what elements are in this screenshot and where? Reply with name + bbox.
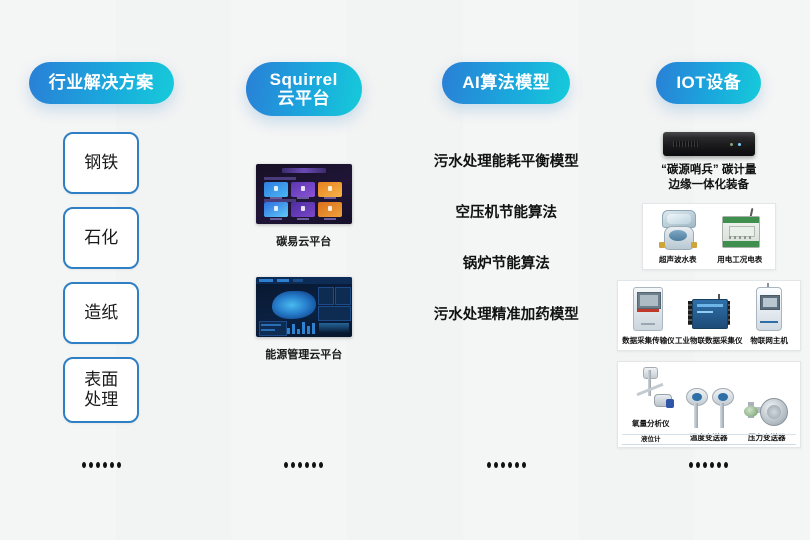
platform-caption: 能源管理云平台 (265, 346, 342, 362)
pressure-transmitter-icon (746, 394, 788, 428)
ai-model-item-wastewater-precise-dosing[interactable]: 污水处理精准加药模型 (434, 303, 579, 324)
industry-box-steel[interactable]: 钢铁 (63, 132, 139, 194)
ellipsis-squirrel-cloud (203, 462, 406, 468)
industry-box-label: 造纸 (84, 303, 118, 323)
pill-industry-solutions[interactable]: 行业解决方案 (29, 62, 174, 104)
industry-box-label: 钢铁 (84, 153, 118, 173)
hero-device-caption: “碳源哨兵” 碳计量 边缘一体化装备 (661, 163, 756, 193)
pill-label-line2: 云平台 (278, 89, 331, 108)
gateway-icon (688, 297, 730, 331)
pill-label: AI算法模型 (462, 73, 550, 92)
platform-list: 碳易云平台 能源管理云平台 (256, 164, 352, 362)
device-label: 用电工况电表 (717, 254, 762, 265)
temperature-transmitter-icon (685, 388, 733, 428)
ai-model-list: 污水处理能耗平衡模型 空压机节能算法 锅炉节能算法 污水处理精准加药模型 (405, 150, 608, 324)
hero-caption-line1: “碳源哨兵” 碳计量 (661, 163, 756, 178)
industry-box-label: 石化 (84, 228, 118, 248)
device-panel-acquisition: 数据采集传输仪 工业物联数据采集仪 物联网主机 (617, 280, 801, 351)
pill-label: IOT设备 (676, 73, 741, 92)
device-panel-instruments: 氧量分析仪 液位计 温度变送器 压力变送器 (617, 361, 801, 448)
iot-host-icon (756, 287, 782, 331)
hero-device-carbon-sentinel[interactable]: “碳源哨兵” 碳计量 边缘一体化装备 (661, 132, 756, 193)
industry-box-label: 表面 处理 (84, 370, 118, 409)
pill-ai-algorithm-models[interactable]: AI算法模型 (442, 62, 570, 104)
ellipsis-ai-models (405, 462, 608, 468)
ai-model-item-air-compressor-saving[interactable]: 空压机节能算法 (456, 201, 558, 222)
ellipsis-row (0, 462, 810, 468)
ellipsis-iot-devices (608, 462, 810, 468)
industry-box-petrochemical[interactable]: 石化 (63, 207, 139, 269)
device-label: 工业物联数据采集仪 (675, 335, 743, 346)
industry-box-list: 钢铁 石化 造纸 表面 处理 (63, 132, 139, 423)
column-ai-models: AI算法模型 污水处理能耗平衡模型 空压机节能算法 锅炉节能算法 污水处理精准加… (405, 0, 608, 540)
iot-device-stack: “碳源哨兵” 碳计量 边缘一体化装备 超声波水表 用电工况 (617, 132, 801, 448)
architecture-board: 行业解决方案 钢铁 石化 造纸 表面 处理 Squirrel 云平台 (0, 0, 810, 540)
industry-box-papermaking[interactable]: 造纸 (63, 282, 139, 344)
column-squirrel-cloud: Squirrel 云平台 (203, 0, 406, 540)
platform-caption: 碳易云平台 (276, 233, 331, 249)
device-label: 物联网主机 (750, 335, 788, 346)
industry-box-surface-treatment[interactable]: 表面 处理 (63, 357, 139, 423)
rack-server-icon (663, 132, 755, 156)
data-collector-icon (633, 287, 663, 331)
device-label: 数据采集传输仪 (622, 335, 675, 346)
column-industry-solutions: 行业解决方案 钢铁 石化 造纸 表面 处理 (0, 0, 203, 540)
device-iot-host[interactable]: 物联网主机 (743, 287, 796, 346)
pill-iot-devices[interactable]: IOT设备 (656, 62, 761, 104)
pill-squirrel-cloud[interactable]: Squirrel 云平台 (246, 62, 362, 116)
power-meter-icon (720, 210, 760, 250)
device-data-acquisition-transmitter[interactable]: 数据采集传输仪 (622, 287, 675, 346)
pill-label: 行业解决方案 (49, 73, 154, 92)
device-ultrasonic-water-meter[interactable]: 超声波水表 (647, 210, 709, 265)
ai-model-item-wastewater-energy-balance[interactable]: 污水处理能耗平衡模型 (434, 150, 579, 171)
dark-tile-dashboard-image (256, 164, 352, 224)
device-label: 超声波水表 (659, 254, 697, 265)
oxygen-analyzer-icon (628, 368, 674, 414)
column-iot-devices: IOT设备 “碳源哨兵” 碳计量 边缘一体化装备 超声波水表 (608, 0, 810, 540)
ellipsis-industry-solutions (0, 462, 203, 468)
device-panel-meters: 超声波水表 用电工况电表 (642, 203, 776, 270)
device-oxygen-analyzer[interactable]: 氧量分析仪 液位计 (622, 368, 680, 443)
device-power-condition-meter[interactable]: 用电工况电表 (709, 210, 771, 265)
platform-item-tanyi[interactable]: 碳易云平台 (256, 164, 352, 249)
hero-caption-line2: 边缘一体化装备 (661, 178, 756, 193)
device-label: 氧量分析仪 (632, 418, 670, 429)
pill-label-line1: Squirrel (270, 70, 338, 89)
blue-map-dashboard-image (256, 277, 352, 337)
platform-item-energy-management[interactable]: 能源管理云平台 (256, 277, 352, 362)
water-meter-icon (660, 210, 696, 250)
ai-model-item-boiler-saving[interactable]: 锅炉节能算法 (463, 252, 550, 273)
device-pressure-transmitter[interactable]: 压力变送器 (738, 394, 796, 443)
device-industrial-iot-gateway[interactable]: 工业物联数据采集仪 (675, 297, 743, 346)
